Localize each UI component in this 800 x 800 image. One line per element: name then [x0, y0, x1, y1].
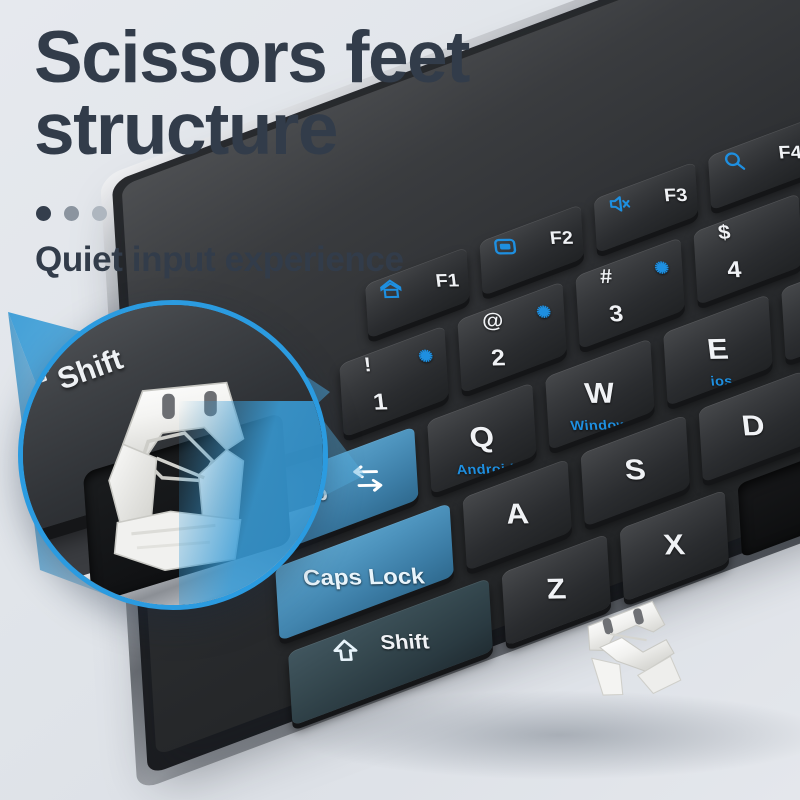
key-d-label: D: [740, 412, 766, 441]
key-2-upper: @: [481, 311, 505, 331]
key-f2-label: F2: [549, 230, 574, 249]
bluetooth-icon: ✺: [653, 260, 670, 277]
search-magnifier-icon: [717, 149, 751, 172]
magnifier-circle: Shift: [18, 300, 328, 610]
carousel-dot-2[interactable]: [64, 206, 79, 221]
carousel-dots[interactable]: [36, 206, 107, 221]
headline-line-1: Scissors feet: [34, 22, 654, 94]
mute-speaker-icon: [602, 192, 636, 215]
key-a-label: A: [504, 500, 530, 529]
key-2-lower: 2: [490, 347, 507, 370]
key-e-label: E: [706, 336, 730, 365]
shift-arrow-icon: [326, 637, 365, 664]
key-s-label: S: [623, 456, 647, 485]
bluetooth-icon: ✺: [417, 348, 434, 365]
key-shift-label: Shift: [379, 632, 430, 653]
key-f4-label: F4: [778, 144, 800, 163]
key-f3-label: F3: [663, 187, 688, 206]
bluetooth-icon: ✺: [535, 304, 552, 321]
keyboard-drop-shadow: [290, 690, 800, 780]
home-pentagon-icon: [374, 277, 408, 300]
key-1-upper: !: [363, 355, 373, 375]
key-w-label: W: [583, 380, 616, 409]
key-1-lower: 1: [372, 391, 389, 414]
carousel-dot-1[interactable]: [36, 206, 51, 221]
headline-block: Scissors feet structure: [34, 22, 654, 165]
key-f1-label: F1: [435, 272, 460, 291]
key-3-upper: #: [599, 267, 614, 287]
key-4-upper: $: [717, 223, 732, 243]
key-x-label: X: [662, 531, 686, 560]
magnifier-beam-overlap: [179, 401, 328, 610]
window-square-icon: [488, 235, 522, 258]
key-q-label: Q: [468, 424, 496, 453]
carousel-dot-3[interactable]: [92, 206, 107, 221]
headline-line-2: structure: [34, 94, 654, 166]
scissor-switch-mechanism-secondary: [565, 585, 693, 713]
tab-arrows-icon: [343, 464, 393, 495]
subheadline: Quiet input experience: [35, 240, 404, 280]
magnifier-content: Shift: [23, 305, 323, 605]
product-feature-banner: F1 F2 F3: [0, 0, 800, 800]
key-3-lower: 3: [608, 303, 625, 326]
key-4-lower: 4: [726, 259, 743, 282]
